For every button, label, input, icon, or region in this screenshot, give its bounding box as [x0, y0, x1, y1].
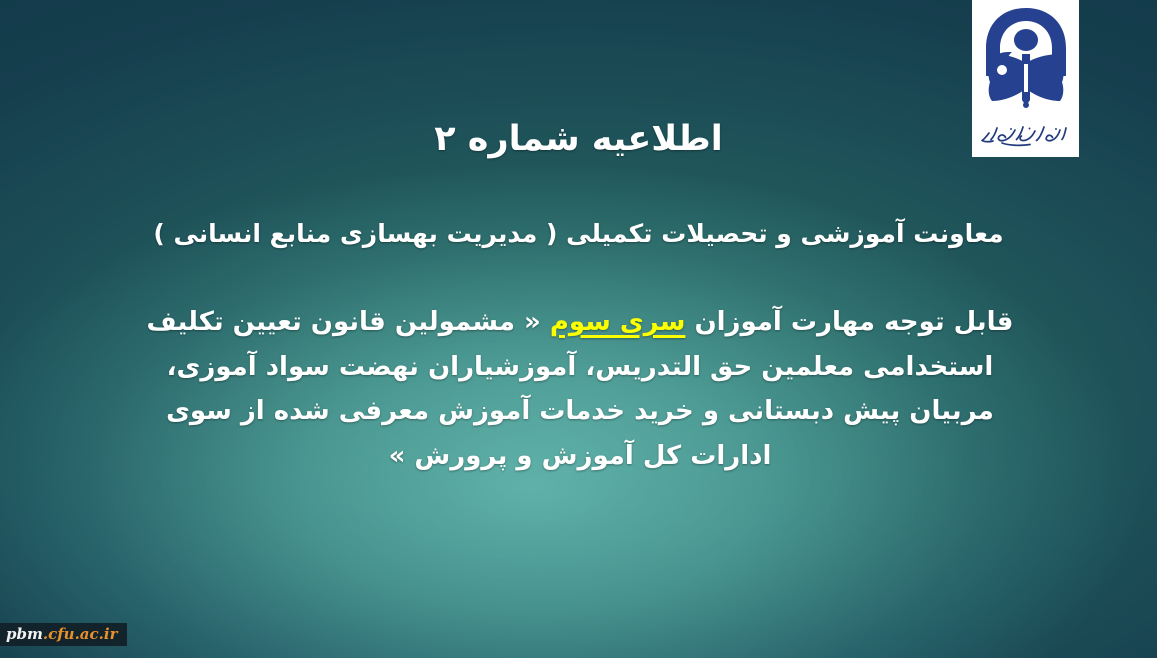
site-watermark: pbm.cfu.ac.ir — [0, 623, 127, 646]
announcement-body: قابل توجه مهارت آموزان سری سوم « مشمولین… — [140, 300, 1020, 479]
department-subtitle: معاونت آموزشی و تحصیلات تکمیلی ( مدیریت … — [0, 218, 1157, 251]
announcement-title: اطلاعیه شماره ۲ — [0, 118, 1157, 162]
body-segment-1: قابل توجه مهارت آموزان — [685, 307, 1013, 337]
body-highlight: سری سوم — [550, 307, 686, 337]
watermark-domain: .cfu.ac.ir — [43, 625, 118, 643]
announcement-slide: اطلاعیه شماره ۲ معاونت آموزشی و تحصیلات … — [0, 0, 1157, 658]
watermark-main: pbm — [6, 625, 43, 643]
university-emblem-icon — [978, 4, 1074, 116]
